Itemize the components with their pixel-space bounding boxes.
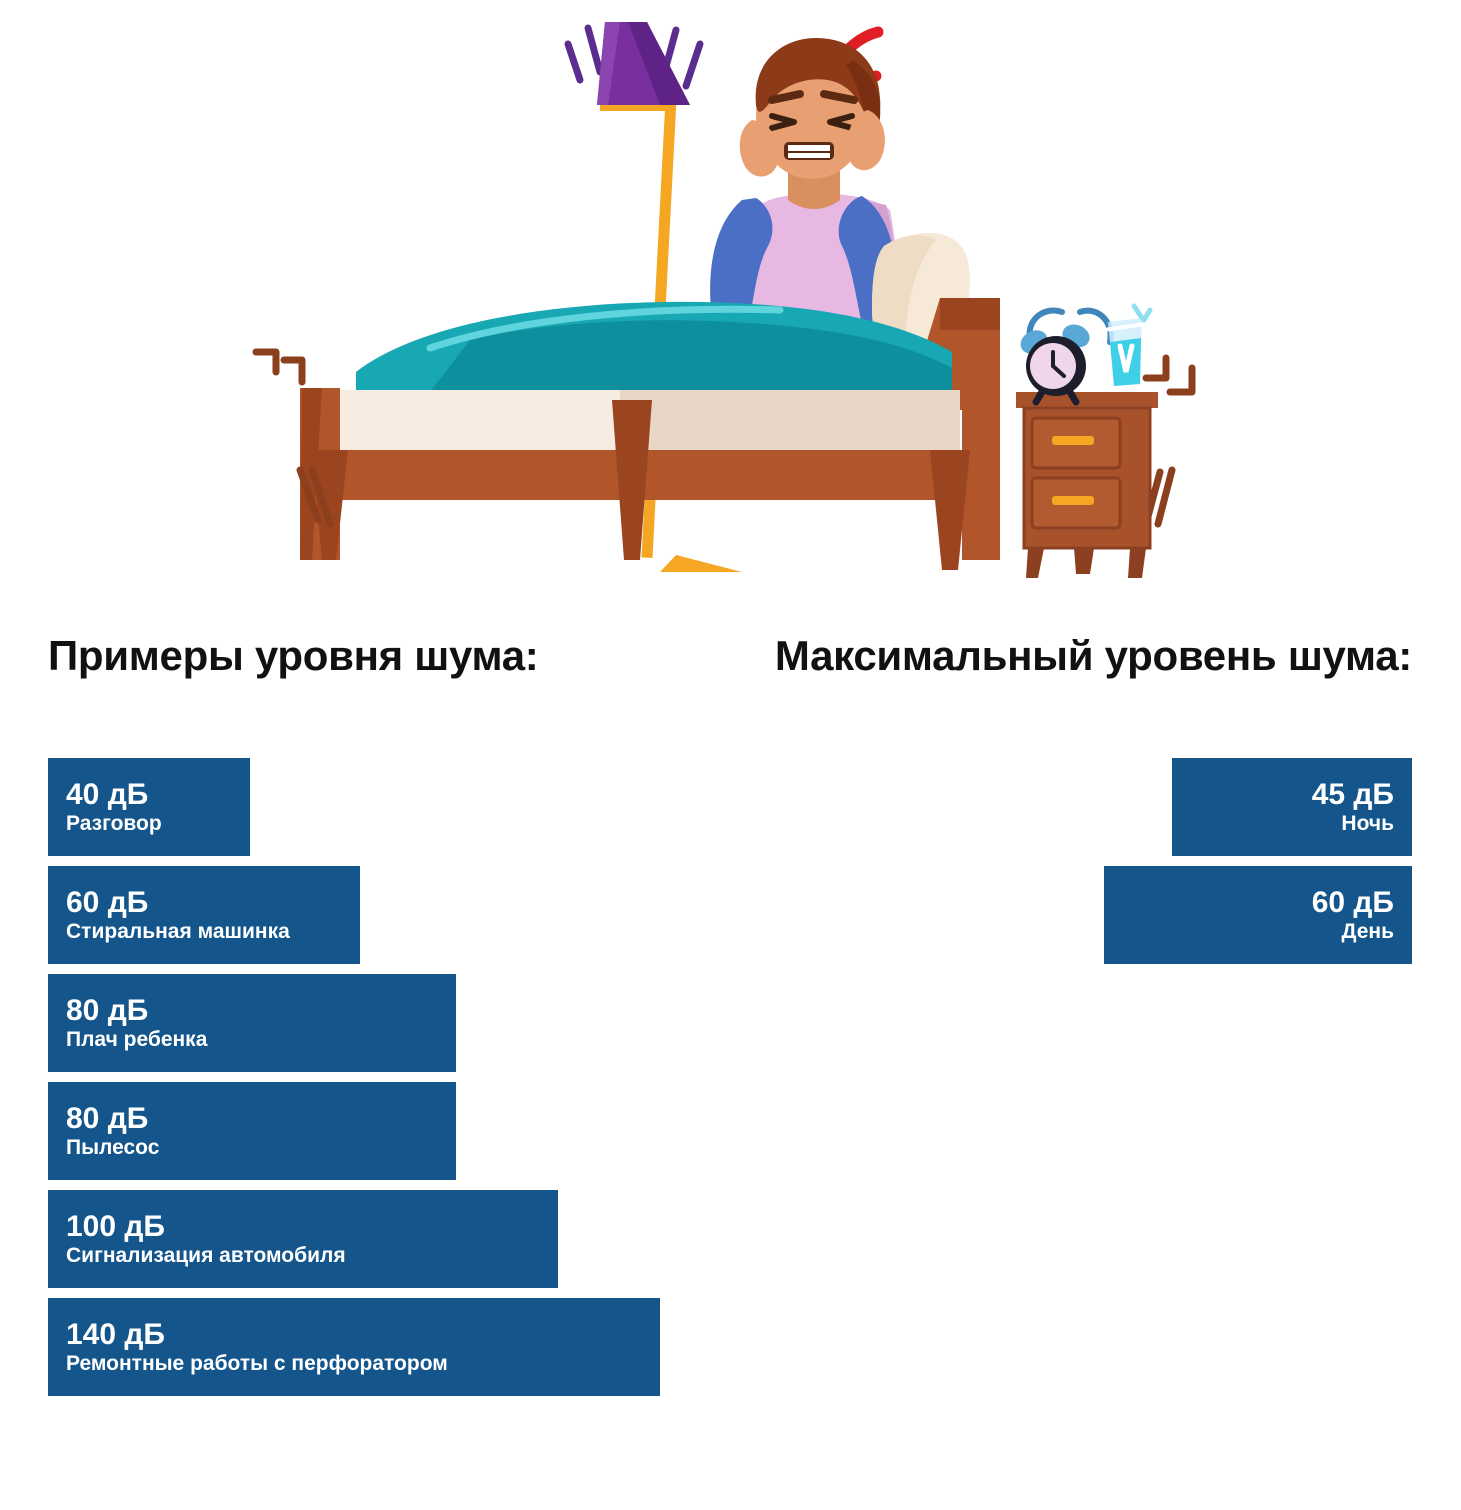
bar-label: Плач ребенка [66, 1028, 438, 1052]
bar-row: 100 дБ Сигнализация автомобиля [48, 1190, 558, 1288]
bar-value: 80 дБ [66, 994, 438, 1028]
bar-value: 40 дБ [66, 778, 232, 812]
bar-content: 45 дБ Ночь [1190, 778, 1394, 836]
examples-heading: Примеры уровня шума: [48, 630, 688, 681]
bar-content: 60 дБ День [1122, 886, 1394, 944]
man-covering-ears-icon [710, 38, 899, 345]
alarm-clock-icon [1016, 310, 1110, 402]
water-glass-icon [1104, 306, 1150, 386]
bar-label: Стиральная машинка [66, 920, 342, 944]
bar-row: 80 дБ Плач ребенка [48, 974, 456, 1072]
bar-label: Сигнализация автомобиля [66, 1244, 540, 1268]
noise-examples-chart: 40 дБ Разговор 60 дБ Стиральная машинка … [48, 758, 748, 1396]
bed-shake-lines-right-icon [1146, 358, 1192, 524]
bar-value: 60 дБ [1122, 886, 1394, 920]
bar-label: Разговор [66, 812, 232, 836]
bar-content: 80 дБ Пылесос [66, 1102, 438, 1160]
bar-content: 60 дБ Стиральная машинка [66, 886, 342, 944]
bar-value: 140 дБ [66, 1318, 642, 1352]
bar-label: Пылесос [66, 1136, 438, 1160]
bar-value: 100 дБ [66, 1210, 540, 1244]
bar-row: 60 дБ День [1104, 866, 1412, 964]
bedroom-noise-illustration [0, 0, 1461, 600]
bar-value: 60 дБ [66, 886, 342, 920]
bar-content: 140 дБ Ремонтные работы с перфоратором [66, 1318, 642, 1376]
bar-content: 80 дБ Плач ребенка [66, 994, 438, 1052]
bar-row: 40 дБ Разговор [48, 758, 250, 856]
bar-row: 45 дБ Ночь [1172, 758, 1412, 856]
bar-content: 40 дБ Разговор [66, 778, 232, 836]
bar-value: 45 дБ [1190, 778, 1394, 812]
bar-value: 80 дБ [66, 1102, 438, 1136]
bar-row: 140 дБ Ремонтные работы с перфоратором [48, 1298, 660, 1396]
noise-limits-chart: 45 дБ Ночь 60 дБ День [1052, 758, 1412, 964]
bar-row: 60 дБ Стиральная машинка [48, 866, 360, 964]
bar-content: 100 дБ Сигнализация автомобиля [66, 1210, 540, 1268]
bar-label: Ночь [1190, 812, 1394, 836]
nightstand-icon [1016, 392, 1158, 578]
bar-label: День [1122, 920, 1394, 944]
limits-heading: Максимальный уровень шума: [752, 630, 1412, 681]
bar-label: Ремонтные работы с перфоратором [66, 1352, 642, 1376]
bar-row: 80 дБ Пылесос [48, 1082, 456, 1180]
